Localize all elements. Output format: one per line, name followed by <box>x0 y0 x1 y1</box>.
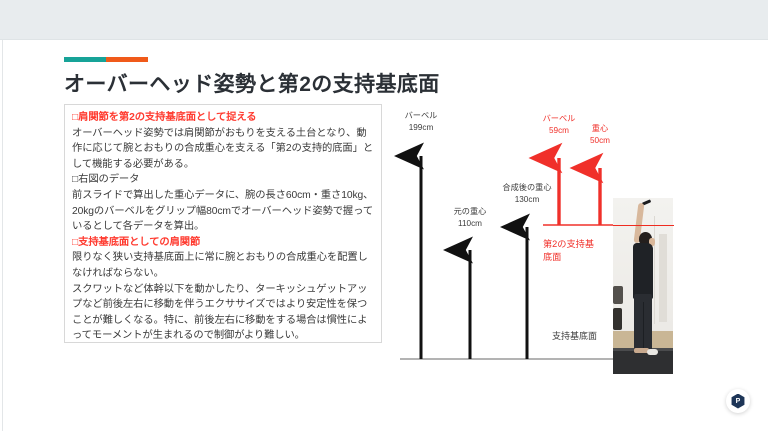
text-heading-right-figure-data: □右図のデータ <box>72 172 374 188</box>
label-barbell-relative-title: バーベル <box>543 114 576 123</box>
label-combined-cog-title: 合成後の重心 <box>502 182 551 192</box>
photo-shoe <box>647 349 658 355</box>
text-paragraph-overhead-posture: オーバーヘッド姿勢では肩関節がおもりを支える土台となり、動作に応じて腕とおもりの… <box>72 126 374 173</box>
photo-wall-edge <box>654 216 655 324</box>
text-paragraph-exercise-difficulty: スクワットなど体幹以下を動かしたり、ターキッシュゲットアップなど前後左右に移動を… <box>72 282 374 344</box>
text-heading-shoulder-as-second-base: □肩関節を第2の支持基底面として捉える <box>72 110 374 126</box>
label-barbell-title: バーベル <box>405 111 438 120</box>
label-barbell-relative-value: 59cm <box>549 126 569 135</box>
label-second-base-line2: 底面 <box>543 251 561 262</box>
label-cog-relative-title: 重心 <box>592 123 608 133</box>
photo-background-object-2 <box>613 308 622 330</box>
text-heading-shoulder-base-of-support: □支持基底面としての肩関節 <box>72 235 374 251</box>
label-barbell-value: 199cm <box>409 123 434 132</box>
accent-segment-orange <box>106 57 148 62</box>
photo-torso <box>633 243 653 299</box>
logo-icon: P <box>731 394 746 409</box>
photo-background-object-1 <box>613 286 623 304</box>
text-paragraph-data-assumptions: 前スライドで算出した重心データに、腕の長さ60cm・重さ10kg、20kgのバー… <box>72 188 374 235</box>
label-combined-cog-value: 130cm <box>515 195 540 204</box>
photo-leg-split <box>643 302 644 348</box>
label-original-cog-value: 110cm <box>458 219 482 228</box>
text-paragraph-narrow-base: 限りなく狭い支持基底面上に常に腕とおもりの合成重心を配置しなければならない。 <box>72 250 374 281</box>
body-text-box: □肩関節を第2の支持基底面として捉える オーバーヘッド姿勢では肩関節がおもりを支… <box>64 104 382 343</box>
corner-logo-badge[interactable]: P <box>726 389 750 413</box>
slide-left-rule <box>2 40 3 431</box>
label-cog-relative-value: 50cm <box>590 136 610 145</box>
label-second-base-line1: 第2の支持基 <box>543 238 594 249</box>
label-base-of-support: 支持基底面 <box>552 330 597 341</box>
label-original-cog-title: 元の重心 <box>454 206 487 216</box>
title-accent-bar <box>64 57 148 62</box>
browser-chrome-bar <box>0 0 768 40</box>
accent-segment-teal <box>64 57 106 62</box>
photo-background-panel <box>659 234 667 322</box>
page-title: オーバーヘッド姿勢と第2の支持基底面 <box>64 68 484 98</box>
shoulder-level-line-on-photo <box>613 225 674 226</box>
